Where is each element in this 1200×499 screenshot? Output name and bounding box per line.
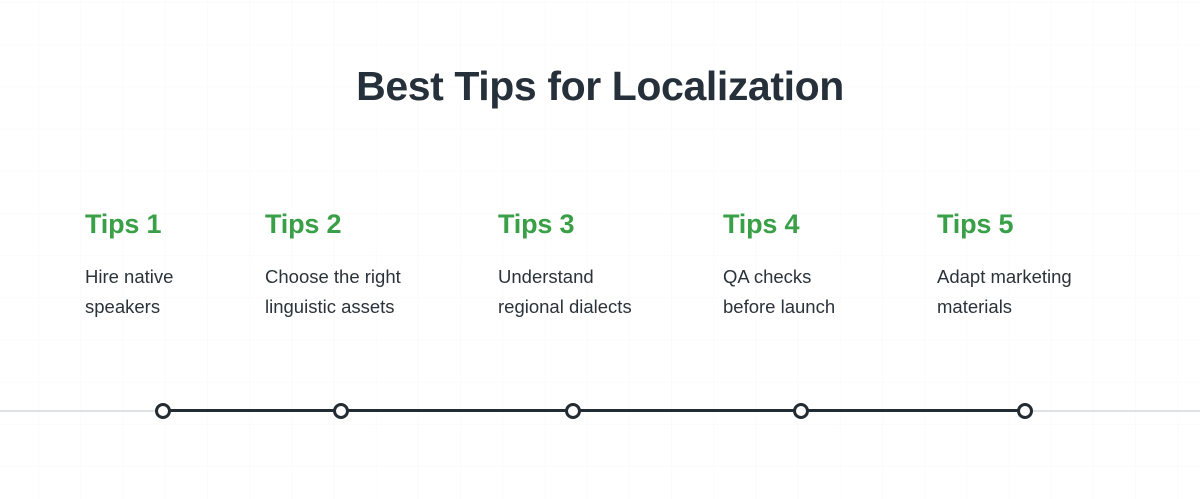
tip-block-5: Tips 5 Adapt marketing materials [937,208,1072,322]
timeline-node-2[interactable] [333,403,349,419]
tips-row: Tips 1 Hire native speakers Tips 2 Choos… [0,208,1200,348]
tip-description-2: Choose the right linguistic assets [265,262,401,322]
timeline [0,403,1200,419]
tip-label-5: Tips 5 [937,208,1072,240]
localization-tips-infographic: Best Tips for Localization Tips 1 Hire n… [0,0,1200,499]
tip-label-2: Tips 2 [265,208,401,240]
tip-label-4: Tips 4 [723,208,835,240]
timeline-node-5[interactable] [1017,403,1033,419]
tip-block-3: Tips 3 Understand regional dialects [498,208,632,322]
tip-block-1: Tips 1 Hire native speakers [85,208,173,322]
tip-description-4: QA checks before launch [723,262,835,322]
timeline-rail-active [163,409,1025,412]
tip-description-3: Understand regional dialects [498,262,632,322]
tip-label-1: Tips 1 [85,208,173,240]
timeline-node-3[interactable] [565,403,581,419]
tip-description-1: Hire native speakers [85,262,173,322]
tip-block-4: Tips 4 QA checks before launch [723,208,835,322]
page-title: Best Tips for Localization [0,63,1200,110]
timeline-rail-left [0,410,163,412]
tip-block-2: Tips 2 Choose the right linguistic asset… [265,208,401,322]
timeline-node-1[interactable] [155,403,171,419]
timeline-node-4[interactable] [793,403,809,419]
timeline-rail-right [1025,410,1200,412]
tip-description-5: Adapt marketing materials [937,262,1072,322]
tip-label-3: Tips 3 [498,208,632,240]
